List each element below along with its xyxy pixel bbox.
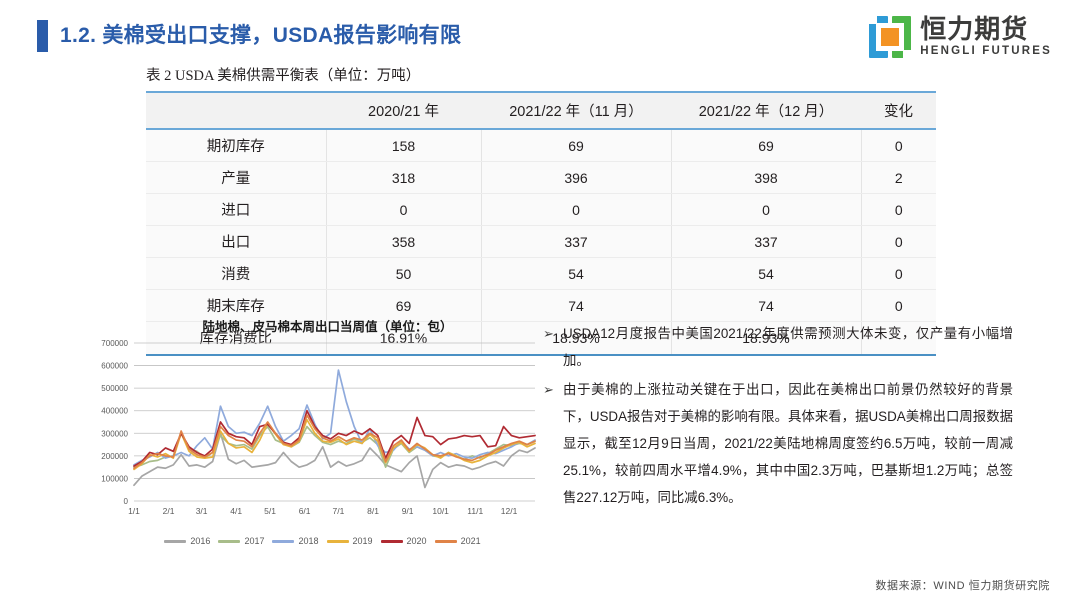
chart-xtick-label: 5/1 — [264, 506, 276, 516]
chart-xtick-label: 12/1 — [501, 506, 518, 516]
table-cell: 54 — [481, 258, 671, 290]
chart-legend-item: 2016 — [164, 536, 210, 546]
table-cell: 2 — [861, 162, 936, 194]
chart-xtick-label: 7/1 — [333, 506, 345, 516]
legend-label: 2019 — [353, 536, 373, 546]
export-weekly-chart: 陆地棉、皮马棉本周出口当周值（单位：包） 0100000200000300000… — [86, 316, 541, 566]
table-cell: 158 — [326, 129, 481, 162]
legend-label: 2018 — [298, 536, 318, 546]
table-col-header-1: 2020/21 年 — [326, 92, 481, 129]
table-cell: 337 — [671, 226, 861, 258]
legend-swatch-icon — [164, 540, 186, 543]
title-accent-bar — [37, 20, 48, 52]
table-cell: 0 — [861, 129, 936, 162]
chart-legend-item: 2020 — [381, 536, 427, 546]
bullet-text: USDA12月度报告中美国2021/22年度供需预测大体未变，仅产量有小幅增加。 — [563, 320, 1013, 374]
list-item: ➢ USDA12月度报告中美国2021/22年度供需预测大体未变，仅产量有小幅增… — [543, 320, 1013, 374]
chart-legend-item: 2021 — [435, 536, 481, 546]
table-cell: 398 — [671, 162, 861, 194]
analysis-bullets: ➢ USDA12月度报告中美国2021/22年度供需预测大体未变，仅产量有小幅增… — [543, 320, 1013, 513]
chart-xtick-label: 8/1 — [367, 506, 379, 516]
table-cell: 54 — [671, 258, 861, 290]
table-cell: 0 — [861, 290, 936, 322]
chart-plot-area: 0100000200000300000400000500000600000700… — [86, 337, 541, 532]
table-row-label: 进口 — [146, 194, 326, 226]
balance-table-block: 表 2 USDA 美棉供需平衡表（单位：万吨） 2020/21 年 2021/2… — [146, 64, 936, 356]
table-cell: 337 — [481, 226, 671, 258]
source-note: 数据来源：WIND 恒力期货研究院 — [875, 577, 1050, 593]
table-cell: 0 — [671, 194, 861, 226]
table-cell: 0 — [861, 194, 936, 226]
legend-label: 2020 — [407, 536, 427, 546]
table-cell: 50 — [326, 258, 481, 290]
table-caption: 表 2 USDA 美棉供需平衡表（单位：万吨） — [146, 64, 936, 85]
table-row-label: 期初库存 — [146, 129, 326, 162]
chart-ytick-label: 300000 — [101, 429, 128, 438]
table-row: 出口3583373370 — [146, 226, 936, 258]
chart-xtick-label: 9/1 — [402, 506, 414, 516]
chart-legend: 201620172018201920202021 — [112, 536, 541, 546]
chart-title: 陆地棉、皮马棉本周出口当周值（单位：包） — [114, 316, 541, 335]
legend-label: 2016 — [190, 536, 210, 546]
chart-ytick-label: 0 — [124, 497, 129, 506]
arrow-bullet-icon: ➢ — [543, 320, 563, 347]
table-cell: 358 — [326, 226, 481, 258]
chart-legend-item: 2018 — [272, 536, 318, 546]
table-col-header-4: 变化 — [861, 92, 936, 129]
table-cell: 0 — [326, 194, 481, 226]
table-col-header-2: 2021/22 年（11 月） — [481, 92, 671, 129]
logo-chinese-name: 恒力期货 — [920, 16, 1052, 42]
chart-ytick-label: 200000 — [101, 452, 128, 461]
chart-ytick-label: 100000 — [101, 474, 128, 483]
table-header-row: 2020/21 年 2021/22 年（11 月） 2021/22 年（12 月… — [146, 92, 936, 129]
legend-label: 2021 — [461, 536, 481, 546]
chart-xtick-label: 10/1 — [432, 506, 449, 516]
hengli-logo-mark-icon — [869, 16, 911, 58]
table-col-header-0 — [146, 92, 326, 129]
chart-ytick-label: 700000 — [101, 339, 128, 348]
page-title: 1.2. 美棉受出口支撑，USDA报告影响有限 — [60, 20, 461, 52]
table-row: 产量3183963982 — [146, 162, 936, 194]
legend-swatch-icon — [435, 540, 457, 543]
chart-xtick-label: 11/1 — [467, 506, 483, 516]
chart-series-line — [134, 420, 535, 470]
table-cell: 0 — [861, 226, 936, 258]
chart-svg: 0100000200000300000400000500000600000700… — [86, 337, 541, 527]
legend-swatch-icon — [218, 540, 240, 543]
company-logo: 恒力期货 HENGLI FUTURES — [869, 14, 1052, 60]
chart-xtick-label: 3/1 — [196, 506, 208, 516]
table-cell: 0 — [481, 194, 671, 226]
table-cell: 0 — [861, 258, 936, 290]
legend-label: 2017 — [244, 536, 264, 546]
legend-swatch-icon — [381, 540, 403, 543]
chart-series-line — [134, 415, 535, 468]
chart-ytick-label: 600000 — [101, 362, 128, 371]
chart-xtick-label: 4/1 — [230, 506, 242, 516]
table-cell: 69 — [671, 129, 861, 162]
chart-xtick-label: 1/1 — [128, 506, 140, 516]
table-row-label: 出口 — [146, 226, 326, 258]
table-cell: 396 — [481, 162, 671, 194]
table-cell: 74 — [671, 290, 861, 322]
list-item: ➢ 由于美棉的上涨拉动关键在于出口，因此在美棉出口前景仍然较好的背景下，USDA… — [543, 376, 1013, 511]
table-row-label: 产量 — [146, 162, 326, 194]
slide-header: 1.2. 美棉受出口支撑，USDA报告影响有限 恒力期货 HENGLI FUTU… — [0, 0, 1080, 70]
table-row: 期初库存15869690 — [146, 129, 936, 162]
chart-legend-item: 2017 — [218, 536, 264, 546]
chart-ytick-label: 400000 — [101, 407, 128, 416]
legend-swatch-icon — [327, 540, 349, 543]
chart-ytick-label: 500000 — [101, 384, 128, 393]
logo-english-name: HENGLI FUTURES — [920, 46, 1052, 58]
table-row-label: 消费 — [146, 258, 326, 290]
arrow-bullet-icon: ➢ — [543, 376, 563, 403]
bullet-text: 由于美棉的上涨拉动关键在于出口，因此在美棉出口前景仍然较好的背景下，USDA报告… — [563, 376, 1013, 511]
table-cell: 318 — [326, 162, 481, 194]
table-cell: 69 — [481, 129, 671, 162]
chart-legend-item: 2019 — [327, 536, 373, 546]
table-col-header-3: 2021/22 年（12 月） — [671, 92, 861, 129]
chart-xtick-label: 6/1 — [299, 506, 311, 516]
chart-xtick-label: 2/1 — [163, 506, 175, 516]
table-row: 消费5054540 — [146, 258, 936, 290]
legend-swatch-icon — [272, 540, 294, 543]
table-row: 进口0000 — [146, 194, 936, 226]
